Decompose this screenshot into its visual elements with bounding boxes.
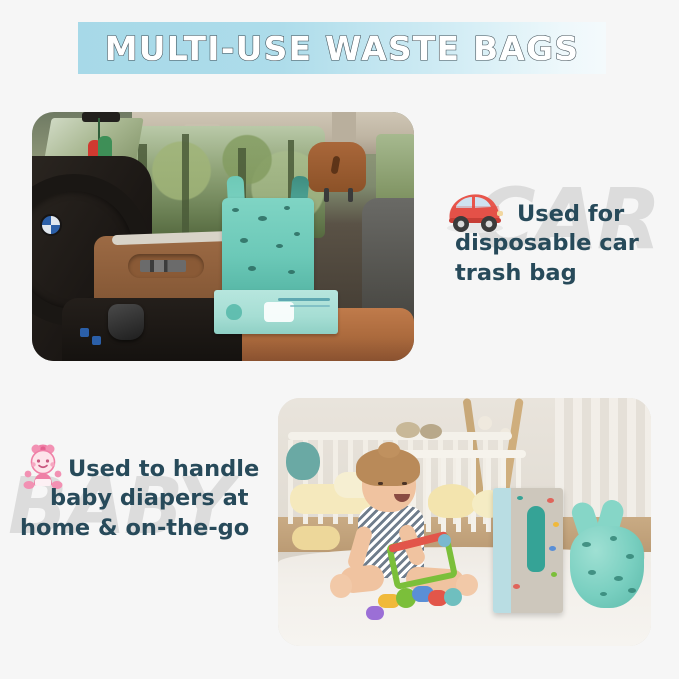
car-usage-photo — [32, 112, 414, 361]
car-callout-line-3: trash bag — [455, 260, 577, 286]
box-text-line-2 — [290, 305, 330, 307]
floor-cushion — [292, 526, 340, 550]
box-bottle-graphic — [527, 506, 545, 572]
product-box-baby — [493, 488, 563, 613]
plush-toy-tan — [396, 422, 420, 438]
plush-toy-tan-2 — [420, 424, 442, 439]
product-infographic: MULTI-USE WASTE BAGS — [0, 0, 679, 679]
product-box-car — [214, 290, 338, 334]
toy-bead — [438, 534, 451, 547]
nursery-scene — [278, 398, 651, 646]
floor-toy-teal — [444, 588, 462, 606]
floor-toy-purple — [366, 606, 384, 620]
tied-waste-bag — [570, 526, 644, 608]
plush-toy-teal — [286, 442, 320, 480]
car-interior-scene — [32, 112, 414, 361]
baby-callout-line-3: home & on-the-go — [20, 515, 249, 541]
car-callout-text: Used for disposable car trash bag — [455, 200, 675, 288]
box-paw-graphic — [226, 304, 242, 320]
baby-foot-left — [330, 574, 352, 598]
car-window-switches — [140, 260, 186, 272]
baby-callout-text: Used to handle baby diapers at home & on… — [20, 455, 276, 543]
box-text-line-1 — [278, 298, 330, 301]
baby-callout-line-2: baby diapers at — [50, 484, 276, 513]
car-callout-line-1: Used for — [455, 200, 675, 229]
plush-duck — [428, 484, 476, 518]
page-title: MULTI-USE WASTE BAGS — [105, 32, 580, 65]
baby-callout-line-1: Used to handle — [20, 455, 276, 484]
car-brand-badge — [40, 214, 62, 236]
baby-usage-photo — [278, 398, 651, 646]
bag-brand-mark — [253, 250, 298, 271]
teal-waste-bag — [222, 198, 314, 294]
title-banner: MULTI-USE WASTE BAGS — [78, 22, 606, 74]
car-callout-line-2: disposable car — [455, 230, 639, 256]
car-gear-shifter — [108, 304, 144, 340]
car-rear-window — [376, 134, 414, 206]
